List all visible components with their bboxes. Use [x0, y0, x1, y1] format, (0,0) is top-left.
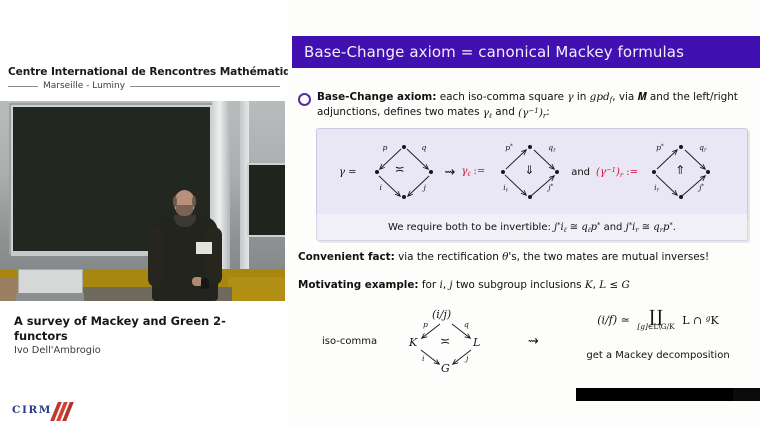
bullet-base-change-axiom: Base-Change axiom: each iso-comma square… [298, 90, 754, 121]
node-K: K [409, 336, 417, 349]
talk-author: Ivo Dell'Ambrogio [14, 345, 101, 356]
squiggle-arrow-icon-2: ⇝ [528, 334, 539, 349]
edge-label-q: q [464, 320, 469, 329]
squiggle-arrow-icon-1: ⇝ [441, 165, 460, 180]
slide-footer: Ivo Dell'Ambrogio Mackey and Green 2-fun… [576, 388, 760, 401]
edge-label-i-ell: iℓ [503, 183, 508, 193]
edge-label-i: i [380, 183, 382, 192]
gamma-inverse-r-label: (γ−1)r := [596, 166, 638, 179]
center-iso-2cell-icon: ≍ [440, 334, 450, 348]
convenient-fact-line: Convenient fact: via the rectification θ… [298, 250, 709, 266]
footer-author: Ivo Dell'Ambrogio [733, 388, 760, 401]
motivating-example-text: for i, j two subgroup inclusions K, L ≤ … [422, 279, 630, 291]
formula-diagram-row: γ = [317, 129, 747, 215]
node-G: G [441, 362, 450, 375]
bullet-dot-icon [298, 93, 311, 106]
rule-right [130, 86, 280, 87]
edge-label-i-r: ir [654, 183, 659, 193]
gamma-ell-label: γℓ := [461, 166, 485, 178]
edge-label-p-star: p* [505, 143, 512, 152]
slide-body: Base-Change axiom: each iso-comma square… [288, 78, 760, 373]
edge-label-j-star: j* [548, 183, 553, 192]
isocomma-label: iso-comma [322, 336, 377, 347]
speaker-arm-left [148, 227, 164, 287]
diagram-gamma-inv-r: p* qr ir j* ⇑ [644, 141, 718, 203]
institution-name: Centre International de Rencontres Mathé… [8, 66, 280, 78]
bullet-lead: Base-Change axiom: [317, 91, 436, 103]
speaker-name-badge [196, 242, 212, 254]
convenient-fact-lead: Convenient fact: [298, 251, 395, 263]
mackey-decomposition-caption: get a Mackey decomposition [560, 350, 756, 361]
edge-label-i: i [422, 354, 424, 363]
center-iso-2cell-icon: ≍ [395, 162, 405, 176]
formula-rhs: L ∩ gK [682, 314, 719, 327]
edge-label-p: p [423, 320, 428, 329]
cirm-logo: CIRM [8, 400, 90, 422]
slide-title: Base-Change axiom = canonical Mackey for… [292, 36, 760, 68]
edge-label-p: p [383, 143, 388, 152]
slide-recording-page: Centre International de Rencontres Mathé… [0, 0, 760, 427]
convenient-fact-text: via the rectification θ's, the two mates… [398, 251, 709, 263]
edge-label-p-star: p* [656, 143, 663, 152]
left-info-panel: Centre International de Rencontres Mathé… [0, 0, 288, 427]
diagram-isocomma: (i/j) K L G p q i j ≍ [396, 308, 496, 376]
gamma-equals-label: γ = [339, 167, 357, 178]
edge-label-q-r: qr [699, 143, 706, 153]
formula-lhs: (i/f) ≃ [597, 314, 630, 327]
slide-area: Base-Change axiom = canonical Mackey for… [288, 0, 760, 427]
cirm-logo-text: CIRM [12, 404, 52, 416]
speaker-video[interactable] [0, 101, 285, 301]
motivating-example-lead: Motivating example: [298, 279, 419, 291]
diagram-gamma: p q i j ≍ [367, 141, 441, 203]
motivating-example-line: Motivating example: for i, j two subgrou… [298, 278, 630, 294]
invertibility-text: We require both to be invertible: j*iℓ ≅… [388, 221, 676, 234]
base-change-formula-box: γ = [316, 128, 748, 216]
invertibility-requirement: We require both to be invertible: j*iℓ ≅… [316, 214, 748, 241]
speaker-beard [176, 205, 193, 216]
talk-title: A survey of Mackey and Green 2-functors [14, 314, 279, 344]
edge-label-q: q [422, 143, 427, 152]
center-downarrow-icon: ⇓ [524, 163, 534, 177]
institution-location: Marseille - Luminy [43, 81, 125, 91]
diagram-gamma-ell: p* qℓ iℓ j* ⇓ [493, 141, 567, 203]
coproduct-group: ∐ [g]∈L\G/K [637, 310, 674, 331]
and-label: and [571, 167, 590, 178]
speaker-clicker [201, 278, 209, 289]
speaker-arm-right [206, 227, 222, 285]
institution-location-row: Marseille - Luminy [8, 81, 280, 91]
footer-spacer [576, 388, 733, 401]
mackey-decomposition-row: iso-comma (i/j) K L G p q [288, 300, 760, 378]
node-L: L [473, 336, 480, 349]
rule-left [8, 86, 38, 87]
edge-label-j-star: j* [699, 183, 704, 192]
bullet-text: Base-Change axiom: each iso-comma square… [317, 90, 754, 121]
chalkboard-secondary [249, 165, 285, 235]
node-isocomma-top: (i/j) [432, 308, 451, 321]
mackey-formula: (i/f) ≃ ∐ [g]∈L\G/K L ∩ gK [560, 310, 756, 331]
wall-lower-band-right [228, 277, 285, 301]
edge-label-j: j [424, 183, 426, 192]
institution-header: Centre International de Rencontres Mathé… [8, 66, 280, 91]
coproduct-index: [g]∈L\G/K [637, 322, 674, 331]
center-uparrow-icon: ⇑ [675, 163, 685, 177]
monitor-base [16, 293, 84, 301]
edge-label-q-ell: qℓ [548, 143, 555, 153]
edge-label-j: j [466, 354, 468, 363]
